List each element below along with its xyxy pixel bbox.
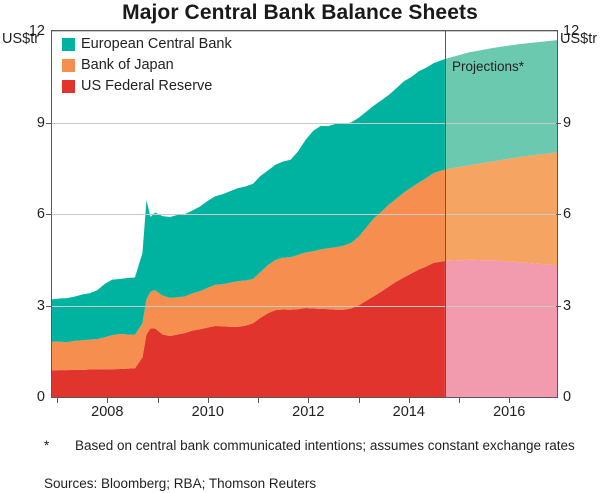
sources-line: Sources: Bloomberg; RBA; Thomson Reuters: [44, 476, 316, 491]
legend-label-fed: US Federal Reserve: [81, 79, 212, 94]
gridline-12: [52, 31, 557, 32]
y-tick-left-9: 9: [0, 115, 45, 131]
y-tick-left-3: 3: [0, 298, 45, 314]
x-tickmark-2007: [57, 397, 58, 403]
area-projection-1: [445, 152, 557, 265]
y-tickmark: [46, 123, 51, 124]
y-tick-right-0: 0: [563, 389, 571, 405]
y-tickmark: [556, 123, 561, 124]
x-tickmark-2012: [308, 397, 309, 403]
x-tick-2008: 2008: [91, 404, 123, 420]
x-tickmark-2013: [359, 397, 360, 403]
y-tick-right-6: 6: [563, 206, 571, 222]
gridline-9: [52, 123, 557, 124]
legend-item-boj[interactable]: Bank of Japan: [62, 56, 232, 75]
legend-item-ecb[interactable]: European Central Bank: [62, 35, 232, 54]
y-tick-left-12: 12: [0, 23, 45, 39]
x-tickmark-2011: [258, 397, 259, 403]
y-tickmark: [556, 306, 561, 307]
x-tickmark-2009: [158, 397, 159, 403]
legend-swatch-boj: [62, 59, 75, 72]
y-tickmark: [46, 306, 51, 307]
area-projection-0: [445, 260, 557, 397]
page-title: Major Central Bank Balance Sheets: [0, 1, 600, 25]
legend-label-boj: Bank of Japan: [81, 58, 174, 73]
projection-divider: [445, 31, 446, 397]
y-tick-right-3: 3: [563, 298, 571, 314]
plot-inner: Projections* European Central Bank Bank …: [52, 31, 557, 397]
x-tickmark-2008: [107, 397, 108, 403]
gridline-6: [52, 214, 557, 215]
legend-label-ecb: European Central Bank: [81, 37, 232, 52]
x-tickmark-2010: [208, 397, 209, 403]
legend: European Central Bank Bank of Japan US F…: [62, 35, 232, 98]
footnote-block: * Based on central bank communicated int…: [44, 438, 589, 455]
y-tick-right-12: 12: [563, 23, 579, 39]
y-tick-left-6: 6: [0, 206, 45, 222]
x-tick-2010: 2010: [192, 404, 224, 420]
projection-label: Projections*: [452, 59, 524, 74]
y-tick-left-0: 0: [0, 389, 45, 405]
x-tickmark-2015: [459, 397, 460, 403]
y-tick-right-9: 9: [563, 115, 571, 131]
legend-swatch-ecb: [62, 38, 75, 51]
x-tick-2016: 2016: [493, 404, 525, 420]
legend-item-fed[interactable]: US Federal Reserve: [62, 77, 232, 96]
y-tickmark: [46, 214, 51, 215]
x-tick-2014: 2014: [393, 404, 425, 420]
footnote-text: Based on central bank communicated inten…: [75, 438, 589, 455]
plot-area: Projections* European Central Bank Bank …: [51, 30, 558, 398]
x-tickmark-2014: [409, 397, 410, 403]
y-tickmark: [556, 214, 561, 215]
legend-swatch-fed: [62, 80, 75, 93]
footnote-star-row: * Based on central bank communicated int…: [44, 438, 589, 455]
footnote-marker: *: [44, 438, 75, 455]
x-tick-2012: 2012: [292, 404, 324, 420]
chart-root: Major Central Bank Balance Sheets US$tr …: [0, 0, 600, 493]
x-tickmark-2016: [509, 397, 510, 403]
gridline-3: [52, 306, 557, 307]
